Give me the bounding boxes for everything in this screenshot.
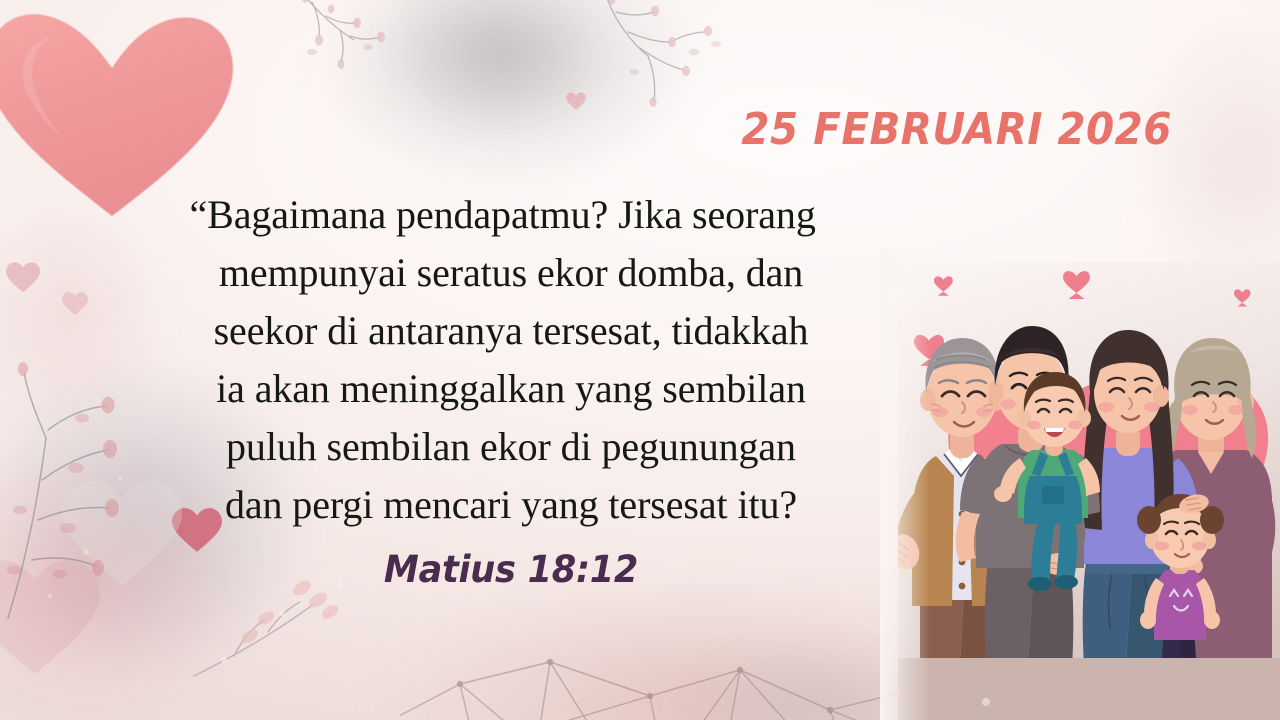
verse-line: “Bagaimana pendapatmu? Jika seorang <box>120 186 902 244</box>
verse-text: “Bagaimana pendapatmu? Jika seorang memp… <box>120 186 902 534</box>
background-heart-icon <box>0 560 100 680</box>
verse-line: dan pergi mencari yang tersesat itu? <box>120 476 902 534</box>
slide-canvas: 25 FEBRUARI 2026 “Bagaimana pendapatmu? … <box>0 0 1280 720</box>
branch-sprig-icon <box>292 0 432 102</box>
geometric-line-pattern <box>400 600 960 720</box>
branch-sprig-icon <box>582 0 752 114</box>
background-heart-icon <box>6 262 40 294</box>
date-heading: 25 FEBRUARI 2026 <box>742 108 1172 152</box>
watercolor-wash-top-inner <box>330 0 660 170</box>
family-illustration <box>898 262 1280 720</box>
verse-line: puluh sembilan ekor di pegunungan <box>120 418 902 476</box>
verse-line: ia akan meninggalkan yang sembilan <box>120 360 902 418</box>
background-heart-icon <box>566 92 586 111</box>
watercolor-wash-top <box>250 0 770 210</box>
verse-line: seekor di antaranya tersesat, tidakkah <box>120 302 902 360</box>
background-heart-icon <box>62 292 88 316</box>
verse-reference: Matius 18:12 <box>140 548 883 591</box>
verse-line: mempunyai seratus ekor domba, dan <box>120 244 902 302</box>
